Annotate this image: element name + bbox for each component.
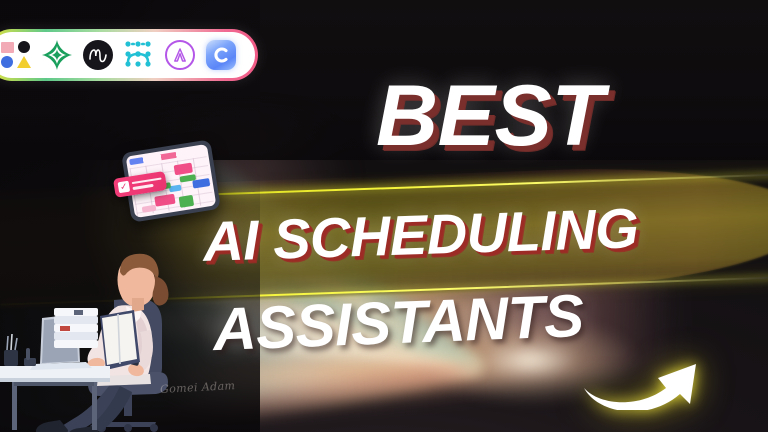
black-circle-squiggle-icon[interactable] bbox=[83, 40, 113, 70]
four-shapes-icon[interactable] bbox=[1, 40, 31, 70]
headline-line-2: AI SCHEDULING bbox=[202, 200, 639, 270]
purple-circle-a-icon[interactable] bbox=[165, 40, 195, 70]
curved-arrow bbox=[578, 330, 708, 410]
thumbnail-canvas: ✓ BEST AI SCHEDULING ASSISTANTS bbox=[0, 0, 768, 432]
ai-tool-logo-strip bbox=[0, 29, 258, 81]
cyan-dot-network-icon[interactable] bbox=[124, 40, 154, 70]
check-icon: ✓ bbox=[118, 181, 131, 194]
headline-line-1: BEST bbox=[376, 73, 603, 159]
headline-line-3: ASSISTANTS bbox=[212, 286, 585, 360]
blue-rounded-c-icon[interactable] bbox=[206, 40, 236, 70]
green-sparkle-icon[interactable] bbox=[42, 40, 72, 70]
woman-at-desk-with-laptop bbox=[0, 250, 210, 432]
